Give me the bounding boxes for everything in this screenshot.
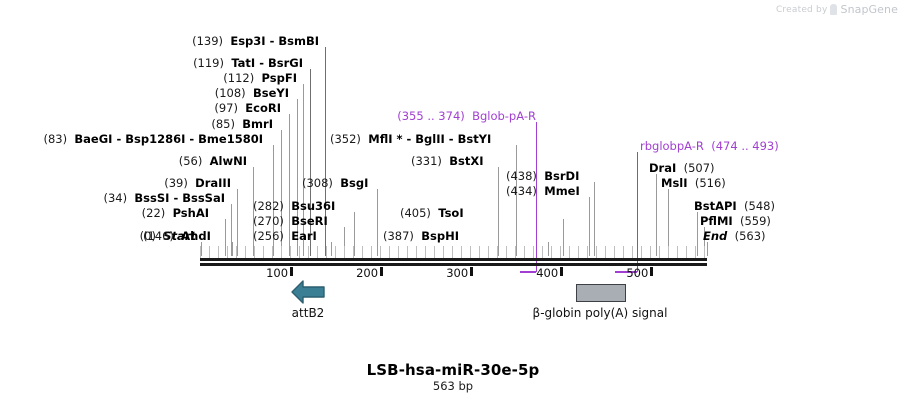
site-name: BglII	[415, 132, 445, 146]
primer-label-bglob-pa-r[interactable]: (355 .. 374) Bglob-pA-R	[397, 110, 536, 122]
leader-line-tsoi	[563, 219, 564, 256]
ruler-minor-tick	[632, 246, 633, 258]
site-label-mmei[interactable]: (434) MmeI	[506, 185, 580, 197]
ruler-minor-tick	[479, 246, 480, 258]
leader-line-ahdi	[232, 242, 233, 256]
ruler-minor-tick	[353, 246, 354, 258]
ruler-minor-tick	[524, 246, 525, 258]
site-position: (405)	[400, 206, 431, 220]
site-position: (270)	[253, 214, 284, 228]
site-name: DraIII	[195, 176, 231, 190]
site-name: BstYI	[458, 132, 492, 146]
ruler-minor-tick	[542, 246, 543, 258]
primer-range: (474 .. 493)	[711, 139, 779, 153]
ruler-minor-tick	[335, 246, 336, 258]
ruler-minor-tick	[299, 246, 300, 258]
backbone-top-rule	[200, 258, 707, 261]
site-label-mslI[interactable]: MslI (516)	[661, 177, 726, 189]
site-label-bseri[interactable]: (270) BseRI	[253, 215, 328, 227]
site-label-bsssi[interactable]: (34) BssSI - BssSaI	[103, 192, 225, 204]
primer-leader-rbglobpa-r	[637, 152, 638, 272]
leader-line-bsu36i	[354, 212, 355, 256]
sequence-map: Created by SnapGene (139) Esp3I - BsmBI(…	[0, 0, 906, 400]
ruler-minor-tick	[425, 246, 426, 258]
ruler-minor-tick	[497, 246, 498, 258]
site-position: (22)	[142, 206, 166, 220]
site-name: BsrGI	[268, 56, 303, 70]
ruler-minor-tick	[398, 246, 399, 258]
ruler-tick-label: 500	[626, 266, 648, 280]
primer-bracket-bglob-pa-r	[520, 271, 536, 273]
site-label-bstapi[interactable]: BstAPI (548)	[694, 200, 775, 212]
site-label-mfli[interactable]: (352) MflI * - BglII - BstYI	[330, 133, 491, 145]
leader-line-end	[707, 242, 708, 256]
ruler-minor-tick	[596, 246, 597, 258]
leader-line-draiii	[237, 189, 238, 256]
site-label-end[interactable]: End (563)	[703, 230, 766, 242]
ruler-minor-tick	[488, 246, 489, 258]
page-title: LSB-hsa-miR-30e-5p	[0, 361, 906, 379]
ruler-minor-tick	[686, 246, 687, 258]
watermark-prefix: Created by	[776, 5, 828, 15]
site-label-earI[interactable]: (256) EarI	[253, 230, 317, 242]
site-label-bsgi[interactable]: (308) BsgI	[302, 177, 368, 189]
leader-line-bstapi	[697, 212, 698, 256]
ruler-minor-tick	[362, 246, 363, 258]
ruler-tick-label: 200	[356, 266, 378, 280]
site-name: DraI	[649, 161, 676, 175]
site-label-ahdi[interactable]: (146) AhdI	[143, 230, 211, 242]
site-position: (108)	[215, 86, 246, 100]
ruler-minor-tick	[605, 246, 606, 258]
ruler-minor-tick	[443, 246, 444, 258]
site-position: (112)	[223, 71, 254, 85]
box-feature-icon[interactable]	[576, 284, 626, 302]
site-name: MflI *	[368, 132, 402, 146]
site-name: EcoRI	[245, 101, 281, 115]
site-name: PspFI	[262, 71, 297, 85]
site-position: (548)	[744, 199, 775, 213]
snapgene-logo-icon	[830, 4, 837, 15]
site-position: (256)	[253, 229, 284, 243]
site-name: TatI	[231, 56, 255, 70]
site-name: BseRI	[291, 214, 328, 228]
leader-line-bsphi	[548, 242, 549, 256]
ruler-minor-tick	[434, 246, 435, 258]
sequence-length: 563 bp	[0, 379, 906, 393]
site-position: (352)	[330, 132, 361, 146]
ruler-minor-tick	[659, 246, 660, 258]
site-label-draiii[interactable]: (39) DraIII	[164, 177, 231, 189]
ruler-minor-tick	[281, 246, 282, 258]
site-name: BssSI	[134, 191, 169, 205]
site-name: AlwNI	[210, 154, 247, 168]
site-name: BsrDI	[544, 169, 579, 183]
site-position: (146)	[143, 229, 174, 243]
ruler-minor-tick	[218, 246, 219, 258]
leader-line-pshai	[225, 219, 226, 256]
ruler-minor-tick	[506, 246, 507, 258]
ruler-minor-tick	[650, 246, 651, 258]
ruler-minor-tick	[704, 246, 705, 258]
ruler-minor-tick	[227, 246, 228, 258]
ruler-tick-label: 100	[266, 266, 288, 280]
ruler-minor-tick	[326, 246, 327, 258]
ruler-minor-tick	[236, 246, 237, 258]
site-position: (438)	[506, 169, 537, 183]
site-label-alwni[interactable]: (56) AlwNI	[179, 155, 247, 167]
site-name: BssSaI	[182, 191, 225, 205]
ruler-tick-label: 400	[536, 266, 558, 280]
ruler-minor-tick	[272, 246, 273, 258]
leader-line-earI	[331, 242, 332, 256]
site-position: (516)	[695, 176, 726, 190]
name-separator: -	[445, 132, 458, 146]
name-separator: -	[112, 132, 125, 146]
ruler-minor-tick	[515, 246, 516, 258]
site-name: BstXI	[449, 154, 483, 168]
name-separator: -	[266, 34, 279, 48]
ruler-minor-tick	[569, 246, 570, 258]
site-name: PflMI	[700, 214, 733, 228]
site-label-ecori[interactable]: (97) EcoRI	[214, 102, 281, 114]
ruler-minor-tick	[461, 246, 462, 258]
ruler-minor-tick	[623, 246, 624, 258]
ruler-minor-tick	[641, 246, 642, 258]
primer-name: Bglob-pA-R	[472, 109, 536, 123]
site-position: (39)	[164, 176, 188, 190]
ruler-minor-tick	[614, 246, 615, 258]
ruler-minor-tick	[344, 246, 345, 258]
site-position: (331)	[411, 154, 442, 168]
ruler-tick-label: 300	[446, 266, 468, 280]
site-position: (97)	[214, 101, 238, 115]
ruler-minor-tick	[551, 246, 552, 258]
site-name: AhdI	[181, 229, 211, 243]
site-name: TsoI	[438, 206, 463, 220]
site-name: BseYI	[253, 86, 289, 100]
ruler-minor-tick	[695, 246, 696, 258]
site-position: (34)	[103, 191, 127, 205]
site-name: Esp3I	[230, 34, 265, 48]
site-position: (387)	[383, 229, 414, 243]
feature-label-attb2: attB2	[292, 306, 325, 320]
primer-range: (355 .. 374)	[397, 109, 465, 123]
site-label-tsoi[interactable]: (405) TsoI	[400, 207, 464, 219]
snapgene-watermark: Created by SnapGene	[776, 3, 898, 16]
ruler-minor-tick	[380, 246, 381, 258]
ruler-minor-tick	[245, 246, 246, 258]
ruler-minor-tick	[254, 246, 255, 258]
site-label-tati[interactable]: (119) TatI - BsrGI	[193, 57, 303, 69]
site-label-bsu36i[interactable]: (282) Bsu36I	[253, 200, 335, 212]
ruler-major-tick	[380, 267, 383, 276]
site-label-bstxi[interactable]: (331) BstXI	[411, 155, 484, 167]
leader-line-bstxi	[498, 167, 499, 256]
ruler-minor-tick	[470, 246, 471, 258]
ruler-minor-tick	[389, 246, 390, 258]
ruler-minor-tick	[407, 246, 408, 258]
name-separator: -	[255, 56, 268, 70]
leader-line-bsgi	[377, 189, 378, 256]
leader-line-mfli	[516, 145, 517, 256]
ruler-minor-tick	[200, 246, 201, 258]
site-label-bmri[interactable]: (85) BmrI	[211, 118, 273, 130]
site-name: Bme1580I	[198, 132, 263, 146]
ruler-minor-tick	[668, 246, 669, 258]
site-label-pflmi[interactable]: PflMI (559)	[700, 215, 771, 227]
site-label-pshai[interactable]: (22) PshAI	[142, 207, 209, 219]
site-name: BspHI	[421, 229, 459, 243]
site-label-drai[interactable]: DraI (507)	[649, 162, 715, 174]
left-arrow-feature-icon[interactable]	[291, 279, 325, 305]
site-label-bseyi[interactable]: (108) BseYI	[215, 87, 289, 99]
ruler-minor-tick	[560, 246, 561, 258]
name-separator: -	[185, 132, 198, 146]
leader-line-mmei	[589, 197, 590, 256]
ruler-minor-tick	[416, 246, 417, 258]
watermark-brand: SnapGene	[840, 3, 898, 16]
ruler-minor-tick	[308, 246, 309, 258]
leader-line-drai	[656, 174, 657, 256]
site-position: (56)	[179, 154, 203, 168]
name-separator: -	[169, 191, 182, 205]
ruler-major-tick	[560, 267, 563, 276]
site-name: PshAI	[173, 206, 209, 220]
site-name: BsmBI	[278, 34, 319, 48]
site-name: MmeI	[544, 184, 580, 198]
site-name: BaeGI	[74, 132, 112, 146]
site-name: BsgI	[340, 176, 368, 190]
site-position: (563)	[735, 229, 766, 243]
primer-name: rbglobpA-R	[640, 139, 704, 153]
primer-label-rbglobpa-r[interactable]: rbglobpA-R (474 .. 493)	[640, 140, 779, 152]
ruler-minor-tick	[263, 246, 264, 258]
site-position: (507)	[684, 161, 715, 175]
site-name: Bsu36I	[291, 199, 335, 213]
ruler-minor-tick	[452, 246, 453, 258]
site-position: (83)	[43, 132, 67, 146]
ruler-minor-tick	[587, 246, 588, 258]
site-label-bsphi[interactable]: (387) BspHI	[383, 230, 459, 242]
ruler-minor-tick	[533, 246, 534, 258]
ruler-major-tick	[290, 267, 293, 276]
site-position: (308)	[302, 176, 333, 190]
name-separator: -	[403, 132, 416, 146]
ruler-minor-tick	[371, 246, 372, 258]
site-label-baegi[interactable]: (83) BaeGI - Bsp1286I - Bme1580I	[43, 133, 263, 145]
site-name: BstAPI	[694, 199, 737, 213]
ruler-major-tick	[470, 267, 473, 276]
site-name: EarI	[291, 229, 317, 243]
site-name: BmrI	[242, 117, 273, 131]
site-position: (434)	[506, 184, 537, 198]
feature-label-polya: β-globin poly(A) signal	[533, 306, 668, 320]
site-label-pspfi[interactable]: (112) PspFI	[223, 72, 297, 84]
site-position: (85)	[211, 117, 235, 131]
site-position: (119)	[193, 56, 224, 70]
ruler-minor-tick	[677, 246, 678, 258]
ruler-minor-tick	[209, 246, 210, 258]
site-name: End	[703, 229, 727, 243]
ruler-minor-tick	[317, 246, 318, 258]
site-position: (282)	[253, 199, 284, 213]
leader-line-bsrdi	[594, 182, 595, 256]
site-name: Bsp1286I	[125, 132, 185, 146]
site-label-bsrdi[interactable]: (438) BsrDI	[506, 170, 579, 182]
ruler-minor-tick	[290, 246, 291, 258]
site-label-esp3i[interactable]: (139) Esp3I - BsmBI	[192, 35, 319, 47]
ruler-minor-tick	[578, 246, 579, 258]
site-position: (139)	[192, 34, 223, 48]
ruler-major-tick	[650, 267, 653, 276]
leader-line-start	[201, 242, 202, 256]
site-position: (559)	[740, 214, 771, 228]
site-name: MslI	[661, 176, 688, 190]
